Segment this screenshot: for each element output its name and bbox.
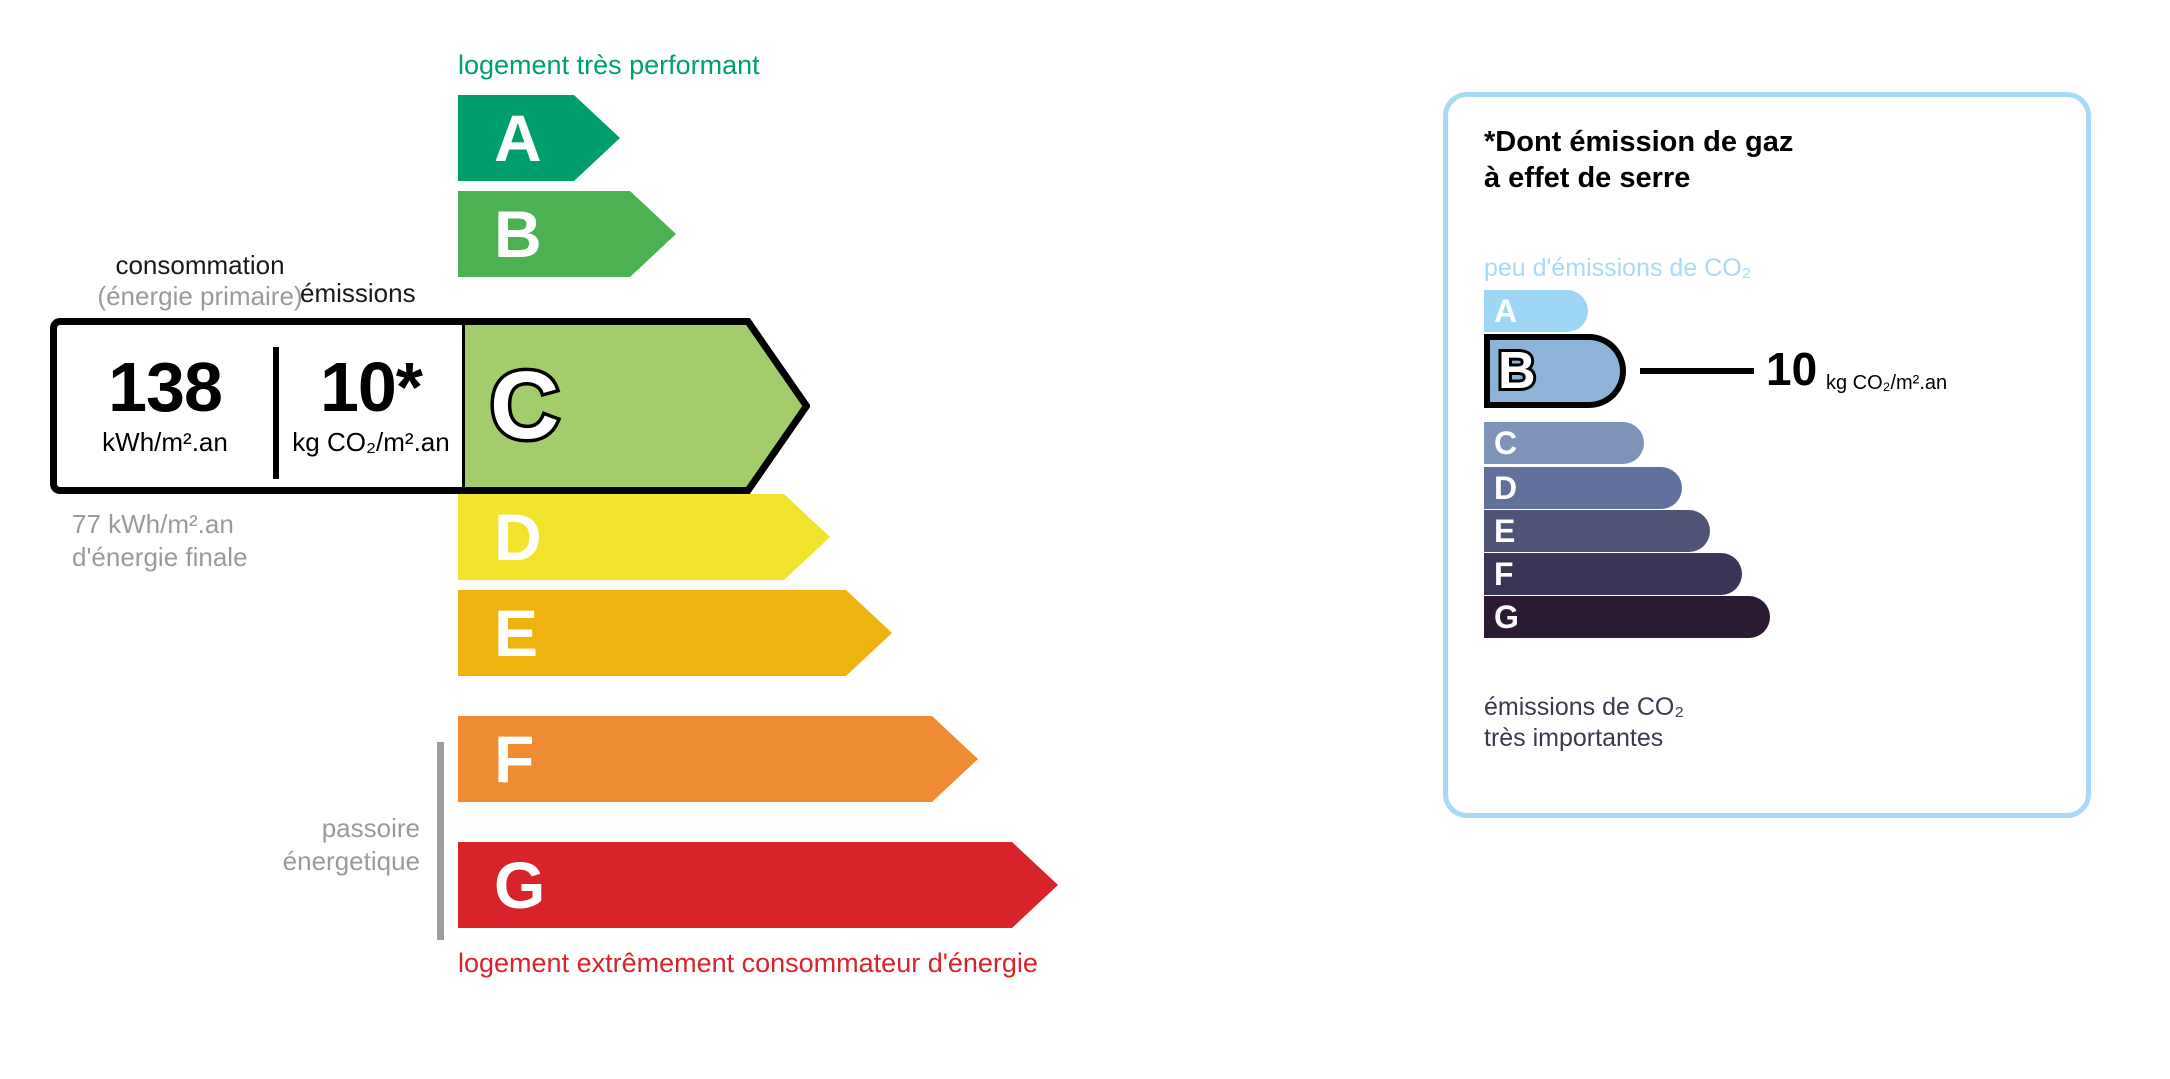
primary-energy-value: 138 xyxy=(108,354,222,421)
energy-bar-d: D xyxy=(458,494,830,580)
co2-value-unit: kg CO₂/m².an xyxy=(1826,373,1947,393)
co2-title-line1: *Dont émission de gaz xyxy=(1484,125,1793,161)
energy-bar-arrow-g xyxy=(458,842,1058,928)
emissions-unit: kg CO₂/m².an xyxy=(292,427,449,458)
co2-bar-letter-b: B xyxy=(1498,345,1536,397)
consumption-label-main: consommation xyxy=(70,250,330,281)
energy-bar-arrow-b xyxy=(458,191,676,277)
energy-bar-c: C xyxy=(458,318,810,494)
co2-panel-title: *Dont émission de gaz à effet de serre xyxy=(1484,125,1793,197)
co2-bar-g: G xyxy=(1484,596,1770,638)
co2-bottom-caption: émissions de CO₂ très importantes xyxy=(1484,692,1684,753)
energy-bar-g: G xyxy=(458,842,1058,928)
primary-energy-unit: kWh/m².an xyxy=(102,427,228,458)
emissions-label: émissions xyxy=(300,278,416,309)
co2-bar-d: D xyxy=(1484,467,1682,509)
co2-emissions-panel: *Dont émission de gaz à effet de serre p… xyxy=(1443,92,2091,818)
final-energy-label: 77 kWh/m².an d'énergie finale xyxy=(72,508,248,573)
co2-bar-letter-g: G xyxy=(1494,601,1519,633)
energy-bar-b: B xyxy=(458,191,676,277)
co2-top-caption: peu d'émissions de CO₂ xyxy=(1484,254,1751,283)
energy-bar-a: A xyxy=(458,95,620,181)
co2-bar-letter-f: F xyxy=(1494,558,1514,590)
emissions-cell: 10* kg CO₂/m².an xyxy=(281,325,461,487)
co2-bottom-caption-line2: très importantes xyxy=(1484,723,1684,754)
energy-bar-f: F xyxy=(458,716,978,802)
energy-bar-arrow-a xyxy=(458,95,620,181)
co2-leader-line xyxy=(1640,368,1754,374)
final-energy-text: d'énergie finale xyxy=(72,541,248,574)
consumption-label: consommation (énergie primaire) xyxy=(70,250,330,311)
co2-bar-fill-g xyxy=(1484,596,1770,638)
co2-bar-c: C xyxy=(1484,422,1644,464)
co2-bottom-caption-line1: émissions de CO₂ xyxy=(1484,692,1684,723)
passoire-label-line1: passoire xyxy=(180,812,420,845)
energy-bar-arrow-f xyxy=(458,716,978,802)
passoire-label-line2: énergetique xyxy=(180,845,420,878)
passoire-label: passoire énergetique xyxy=(180,812,420,877)
scale-top-caption: logement très performant xyxy=(458,50,760,81)
consumption-label-sub: (énergie primaire) xyxy=(70,281,330,312)
energy-performance-scale: logement très performant ABCDEFG logemen… xyxy=(0,0,1400,1079)
co2-bar-fill-f xyxy=(1484,553,1742,595)
co2-bar-a: A xyxy=(1484,290,1588,332)
co2-bar-b: B xyxy=(1484,334,1626,408)
energy-bar-arrow-d xyxy=(458,494,830,580)
co2-value: 10 xyxy=(1766,346,1817,392)
energy-bar-e: E xyxy=(458,590,892,676)
co2-bar-f: F xyxy=(1484,553,1742,595)
co2-bar-letter-a: A xyxy=(1494,295,1517,327)
co2-bar-e: E xyxy=(1484,510,1710,552)
primary-energy-cell: 138 kWh/m².an xyxy=(57,325,273,487)
energy-bar-arrow-e xyxy=(458,590,892,676)
co2-bar-letter-d: D xyxy=(1494,472,1517,504)
co2-bar-selected-edge xyxy=(1484,334,1490,408)
scale-bottom-caption: logement extrêmement consommateur d'éner… xyxy=(458,948,1038,979)
energy-bar-arrow-c xyxy=(458,318,810,494)
co2-bar-letter-e: E xyxy=(1494,515,1515,547)
emissions-value: 10* xyxy=(320,354,422,421)
co2-title-line2: à effet de serre xyxy=(1484,161,1793,197)
co2-bar-letter-c: C xyxy=(1494,427,1517,459)
passoire-divider-line xyxy=(437,742,444,940)
final-energy-value: 77 kWh/m².an xyxy=(72,508,248,541)
co2-bar-fill-e xyxy=(1484,510,1710,552)
value-box-divider xyxy=(273,347,279,479)
value-box: 138 kWh/m².an 10* kg CO₂/m².an xyxy=(50,318,462,494)
